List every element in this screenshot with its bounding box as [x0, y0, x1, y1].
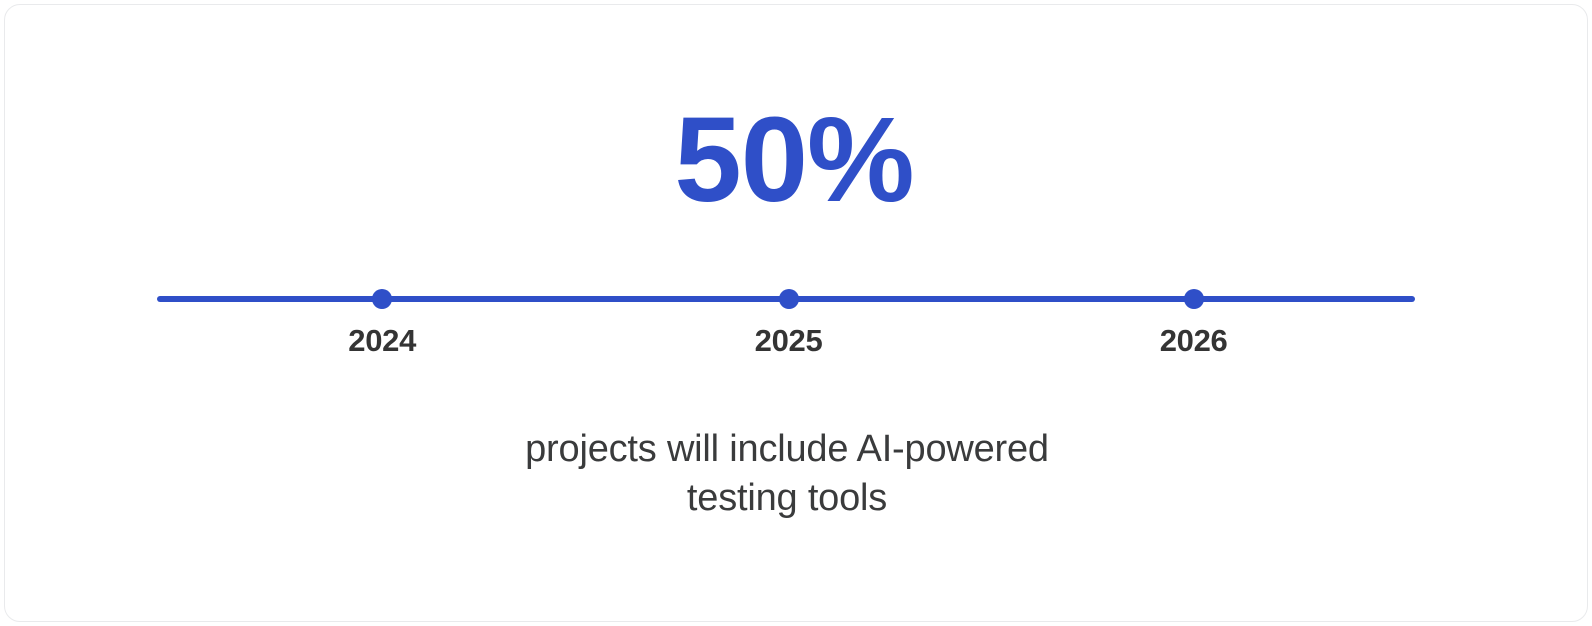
- timeline-dot-icon: [372, 289, 392, 309]
- timeline-dot-icon: [779, 289, 799, 309]
- timeline-label-2026: 2026: [1104, 325, 1284, 356]
- timeline-label-2024: 2024: [292, 325, 472, 356]
- stat-percentage: 50%: [5, 99, 1583, 220]
- timeline-label-2025: 2025: [699, 325, 879, 356]
- stat-caption: projects will include AI-powered testing…: [394, 425, 1180, 523]
- stat-card: 50% 2024 2025 2026 projects will include…: [4, 4, 1588, 622]
- timeline-dot-icon: [1184, 289, 1204, 309]
- stat-caption-line-1: projects will include AI-powered: [394, 425, 1180, 474]
- stat-caption-line-2: testing tools: [394, 474, 1180, 523]
- timeline: 2024 2025 2026: [157, 291, 1415, 371]
